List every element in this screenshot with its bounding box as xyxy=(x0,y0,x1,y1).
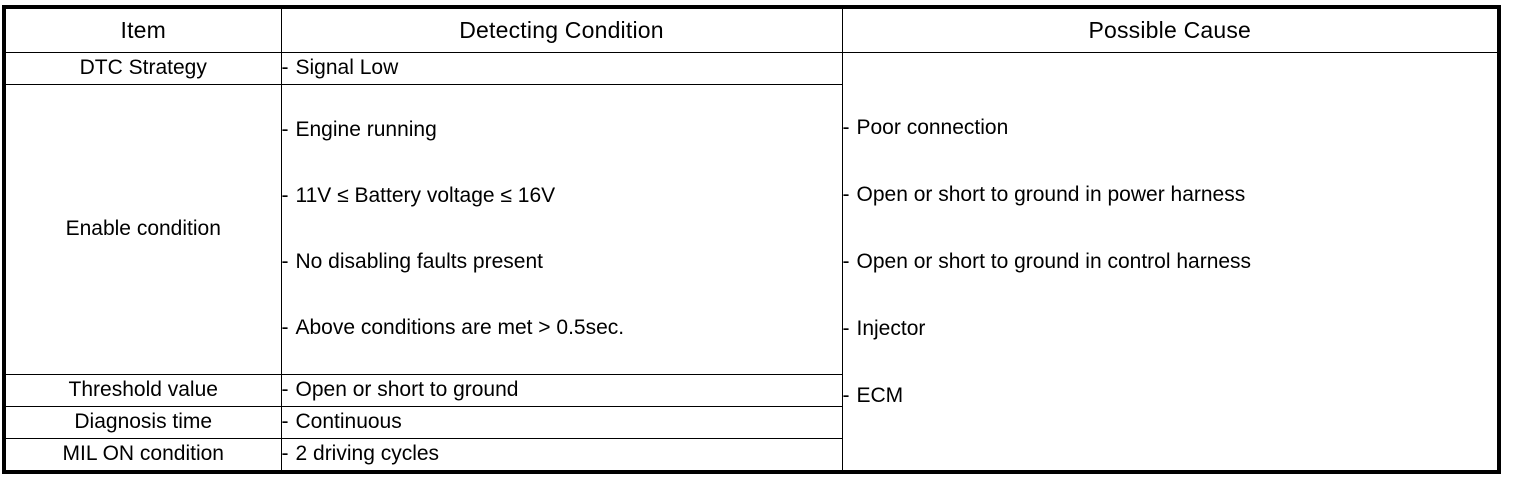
list-item: -No disabling faults present xyxy=(282,248,842,314)
bullet-dash: - xyxy=(282,442,296,466)
dtc-diagnostic-table-container: Item Detecting Condition Possible Cause … xyxy=(2,5,1497,474)
list-item: -Poor connection xyxy=(843,114,1498,181)
column-header-possible-cause: Possible Cause xyxy=(842,7,1499,53)
list-item: -Above conditions are met > 0.5sec. xyxy=(282,314,842,342)
row-label-mil-on-condition: MIL ON condition xyxy=(4,438,281,472)
bullet-dash: - xyxy=(282,56,296,80)
bullet-dash: - xyxy=(282,378,296,402)
row-label-enable-condition: Enable condition xyxy=(4,84,281,374)
row-label-diagnosis-time: Diagnosis time xyxy=(4,406,281,438)
list-item-label: Continuous xyxy=(296,410,402,433)
detecting-condition-enable-condition: -Engine running -11V ≤ Battery voltage ≤… xyxy=(281,84,842,374)
condition-list: -Engine running -11V ≤ Battery voltage ≤… xyxy=(282,116,842,342)
list-item: -11V ≤ Battery voltage ≤ 16V xyxy=(282,182,842,248)
list-item-label: Poor connection xyxy=(857,116,1009,139)
column-header-item: Item xyxy=(4,7,281,53)
list-item: -ECM xyxy=(843,382,1498,410)
list-item: -Open or short to ground xyxy=(282,378,842,402)
bullet-dash: - xyxy=(282,248,296,276)
list-item-label: Injector xyxy=(857,317,926,340)
bullet-dash: - xyxy=(843,315,857,343)
detecting-condition-mil-on-condition: -2 driving cycles xyxy=(281,438,842,472)
list-item-label: Open or short to ground xyxy=(296,378,519,401)
table-header-row: Item Detecting Condition Possible Cause xyxy=(4,7,1499,53)
bullet-dash: - xyxy=(843,181,857,209)
list-item-label: No disabling faults present xyxy=(296,250,543,273)
list-item: -Continuous xyxy=(282,410,842,434)
condition-list: -2 driving cycles xyxy=(282,442,842,466)
list-item: -Injector xyxy=(843,315,1498,382)
list-item-label: Signal Low xyxy=(296,56,399,79)
detecting-condition-threshold-value: -Open or short to ground xyxy=(281,374,842,406)
table-row: DTC Strategy -Signal Low -Poor connectio… xyxy=(4,53,1499,85)
dtc-diagnostic-table: Item Detecting Condition Possible Cause … xyxy=(2,5,1501,474)
condition-list: -Open or short to ground xyxy=(282,378,842,402)
bullet-dash: - xyxy=(282,116,296,144)
list-item-label: 2 driving cycles xyxy=(296,442,440,465)
condition-list: -Signal Low xyxy=(282,56,842,80)
list-item-label: Open or short to ground in control harne… xyxy=(857,250,1252,273)
possible-cause-list: -Poor connection -Open or short to groun… xyxy=(843,114,1498,410)
possible-cause-cell: -Poor connection -Open or short to groun… xyxy=(842,53,1499,473)
list-item-label: Engine running xyxy=(296,118,437,141)
row-label-dtc-strategy: DTC Strategy xyxy=(4,53,281,85)
bullet-dash: - xyxy=(843,114,857,142)
bullet-dash: - xyxy=(282,410,296,434)
list-item-label: ECM xyxy=(857,384,904,407)
bullet-dash: - xyxy=(282,314,296,342)
list-item: -2 driving cycles xyxy=(282,442,842,466)
list-item: -Open or short to ground in power harnes… xyxy=(843,181,1498,248)
detecting-condition-dtc-strategy: -Signal Low xyxy=(281,53,842,85)
bullet-dash: - xyxy=(843,248,857,276)
list-item: -Signal Low xyxy=(282,56,842,80)
list-item-label: 11V ≤ Battery voltage ≤ 16V xyxy=(296,184,556,207)
bullet-dash: - xyxy=(282,182,296,210)
condition-list: -Continuous xyxy=(282,410,842,434)
detecting-condition-diagnosis-time: -Continuous xyxy=(281,406,842,438)
list-item-label: Above conditions are met > 0.5sec. xyxy=(296,316,625,339)
list-item: -Open or short to ground in control harn… xyxy=(843,248,1498,315)
list-item-label: Open or short to ground in power harness xyxy=(857,183,1246,206)
row-label-threshold-value: Threshold value xyxy=(4,374,281,406)
column-header-detecting-condition: Detecting Condition xyxy=(281,7,842,53)
list-item: -Engine running xyxy=(282,116,842,182)
bullet-dash: - xyxy=(843,382,857,410)
